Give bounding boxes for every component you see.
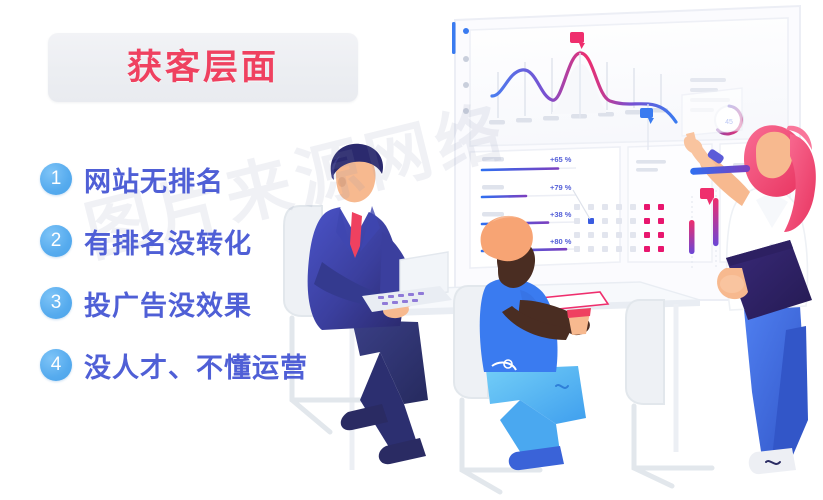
floating-card (682, 88, 742, 136)
list-item-label: 有排名没转化 (84, 222, 252, 261)
list-item-label: 没人才、不懂运营 (84, 346, 308, 385)
list-item[interactable]: 2 有排名没转化 (40, 210, 370, 272)
sidebar-dot-3 (463, 108, 469, 114)
list-item-number-badge: 2 (40, 225, 72, 257)
page-title-plate: 获客层面 (48, 33, 358, 102)
progress-value-3: +38 % (550, 210, 572, 219)
progress-value-2: +79 % (550, 183, 572, 192)
sidebar-dot-2 (463, 82, 469, 88)
list-item-label: 网站无排名 (84, 160, 224, 199)
chair-right (626, 300, 712, 486)
list-item-label: 投广告没效果 (84, 284, 252, 323)
progress-value-4: +80 % (550, 237, 572, 246)
page-title: 获客层面 (127, 50, 279, 85)
list-item[interactable]: 3 投广告没效果 (40, 272, 370, 334)
list-item[interactable]: 4 没人才、不懂运营 (40, 334, 370, 396)
progress-value-1: +65 % (550, 155, 572, 164)
list-item-number-badge: 4 (40, 349, 72, 381)
screenshot-root: 45 +65 % +79 % (0, 0, 823, 500)
sidebar-dot-active (463, 28, 469, 34)
bullet-list: 1 网站无排名 2 有排名没转化 3 投广告没效果 4 没人才、不懂运营 (40, 148, 370, 396)
sidebar-dot-1 (463, 56, 469, 62)
list-item[interactable]: 1 网站无排名 (40, 148, 370, 210)
list-item-number-badge: 3 (40, 287, 72, 319)
list-item-number-badge: 1 (40, 163, 72, 195)
dot-grid-active-cell (588, 218, 594, 224)
